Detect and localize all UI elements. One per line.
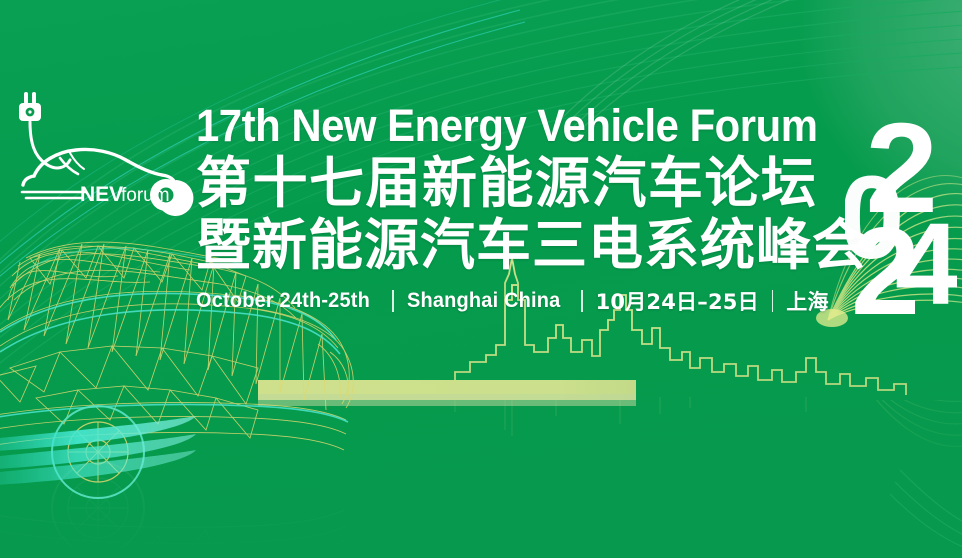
year-artwork: 2 0 2 4: [845, 108, 957, 320]
meta-date-en: October 24th-25th: [196, 289, 370, 313]
event-meta-line: October 24th-25th Shanghai China 10月24日–…: [196, 286, 846, 316]
title-chinese-line-1: 第十七届新能源汽车论坛: [196, 152, 846, 214]
meta-separator-2: [581, 290, 583, 312]
year-digit-4: 4: [895, 199, 957, 320]
car-silhouette-icon: [23, 149, 176, 186]
year-2024: 2 0 2 4: [845, 108, 957, 320]
logo-wordmark-light: forum: [121, 185, 170, 206]
speed-lines-icon: [22, 192, 86, 198]
logo-artwork: NEV forum: [8, 76, 194, 216]
poster-canvas: NEV forum 17th New Energy Vehicle Forum …: [0, 0, 962, 558]
title-chinese-line-2: 暨新能源汽车三电系统峰会: [196, 214, 846, 276]
headline-block: 17th New Energy Vehicle Forum 第十七届新能源汽车论…: [196, 100, 846, 316]
meta-separator-1: [392, 290, 394, 312]
title-english: 17th New Energy Vehicle Forum: [196, 100, 801, 152]
nevforum-logo[interactable]: NEV forum: [8, 76, 194, 216]
charging-plug-icon: [19, 92, 41, 121]
meta-date-cn: 10月24日–25日: [596, 286, 759, 316]
meta-location-cn: 上海: [786, 286, 828, 316]
logo-wordmark-bold: NEV: [80, 183, 123, 206]
meta-separator-3: [772, 290, 774, 312]
meta-location-en: Shanghai China: [407, 289, 560, 313]
horizontal-ground-bar: [258, 380, 636, 406]
